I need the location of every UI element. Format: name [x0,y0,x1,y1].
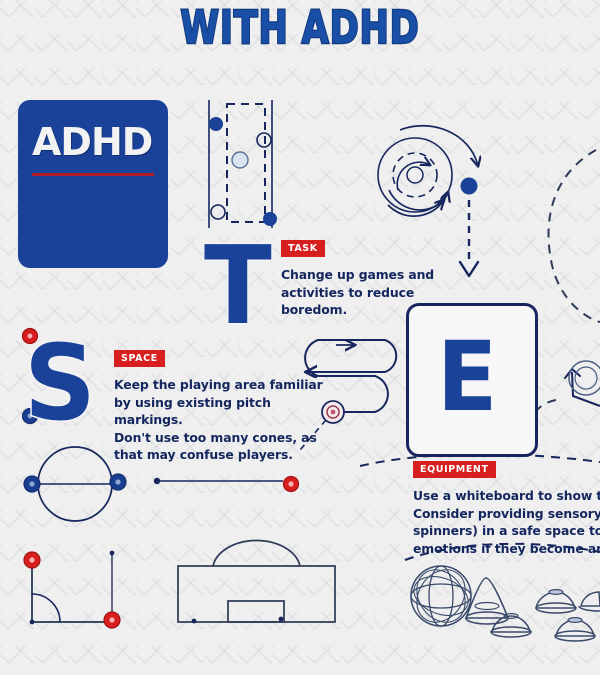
space-text: Keep the playing area familiar by using … [114,376,324,464]
equipment-line: emotions if they become angry, u [413,540,600,558]
equipment-line: Use a whiteboard to show the acti [413,487,600,505]
letter-task: T [204,233,272,341]
space-line: that may confuse players. [114,446,324,464]
task-line: boredom. [281,301,441,319]
flat-marker-icon-1 [536,590,576,613]
section-task: TASK Change up games and activities to r… [281,238,441,319]
space-line: Keep the playing area familiar [114,376,324,394]
letter-space: S [24,331,96,435]
circle-with-diameter [24,447,126,521]
page-title: WITH ADHD [66,2,534,54]
space-line: Don't use too many cones, as [114,429,324,447]
badge-equipment: EQUIPMENT [413,461,496,478]
tall-cone-icon [466,578,508,624]
badge-task: TASK [281,240,325,257]
flat-marker-icon-4 [579,592,600,611]
equipment-text: Use a whiteboard to show the acti Consid… [413,487,600,557]
badge-space: SPACE [114,350,165,367]
wireframe-ball-icon [407,560,475,631]
space-line: by using existing pitch markings. [114,394,324,429]
vertical-lane-diagram [209,100,277,228]
task-text: Change up games and activities to reduce… [281,266,441,319]
adhd-card-rule [32,173,154,176]
ball-cone-markers-icons [407,560,600,641]
equipment-line: spinners) in a safe space to help p [413,522,600,540]
flat-marker-icon-2 [491,614,531,637]
penalty-box-diagram [178,541,335,624]
section-space: SPACE Keep the playing area familiar by … [114,348,324,464]
flat-marker-icon-3 [555,618,595,641]
adhd-card: ADHD [18,100,168,268]
letter-equipment: E [437,329,497,425]
equipment-line: Consider providing sensory toys ( [413,505,600,523]
pointer-track [154,477,299,492]
adhd-card-label: ADHD [32,122,152,162]
task-line: Change up games and [281,266,441,284]
task-line: activities to reduce [281,284,441,302]
section-equipment: EQUIPMENT Use a whiteboard to show the a… [413,459,600,557]
right-angle-marker [24,551,120,628]
